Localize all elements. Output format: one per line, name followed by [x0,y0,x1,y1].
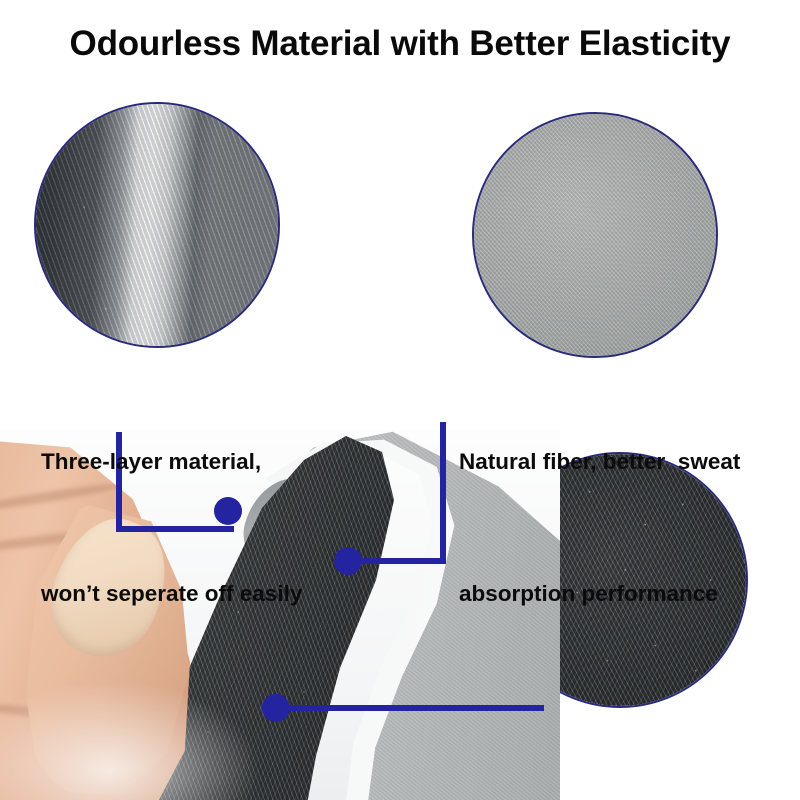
caption-soft-material: Soft material, comfortable to wear [530,707,744,800]
caption-three-layer-line1: Three-layer material, [41,440,302,484]
callout-dot-natural-fiber [334,547,362,575]
caption-natural-fiber-line2: absorption performance [459,572,740,616]
natural-fiber-closeup-image [474,114,716,356]
detail-circle-three-layer [34,102,280,348]
callout-line-soft-material-horizontal [286,705,544,711]
caption-three-layer-line2: won’t seperate off easily [41,572,302,616]
callout-line-natural-fiber-vertical [440,422,446,564]
infographic-page: Odourless Material with Better Elasticit… [0,0,800,800]
caption-natural-fiber-line1: Natural fiber, better sweat [459,440,740,484]
caption-three-layer: Three-layer material, won’t seperate off… [41,352,302,704]
detail-circle-natural-fiber [472,112,718,358]
three-layer-material-closeup-image [34,102,280,348]
caption-soft-material-line1: Soft material, [530,795,744,800]
caption-natural-fiber: Natural fiber, better sweat absorption p… [459,352,740,704]
callout-line-natural-fiber-horizontal [350,558,446,564]
page-title: Odourless Material with Better Elasticit… [0,24,800,64]
